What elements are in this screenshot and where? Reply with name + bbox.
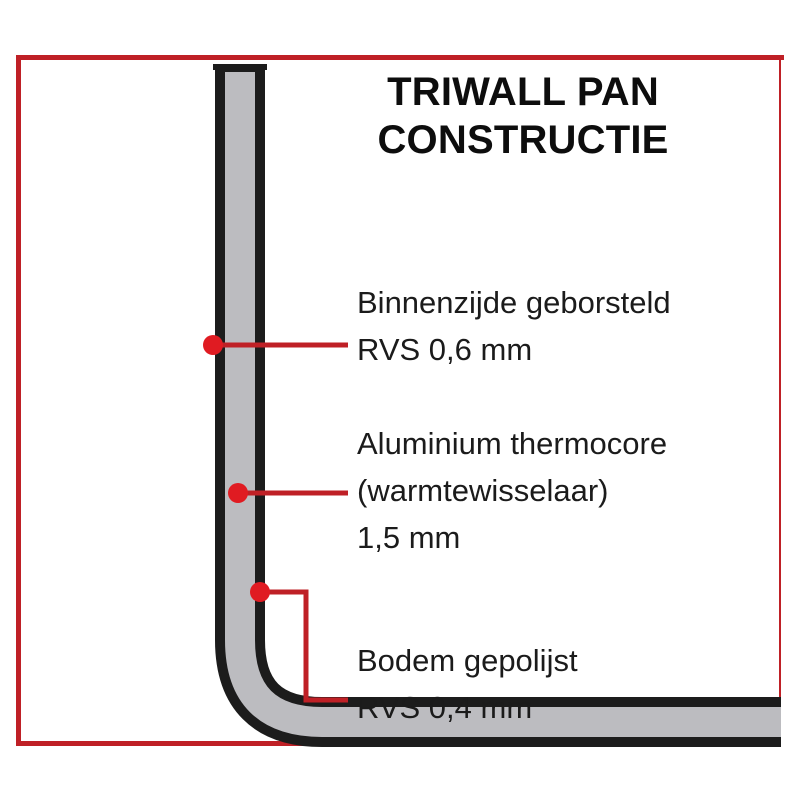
steel-outer-shell	[240, 68, 790, 722]
diagram-canvas: TRIWALL PAN CONSTRUCTIE Binnenzijde gebo…	[0, 0, 800, 800]
wall-top-cap	[213, 64, 267, 70]
page-title: TRIWALL PAN CONSTRUCTIE	[300, 68, 746, 164]
callout-2-line-1: Aluminium thermocore	[357, 420, 667, 467]
right-mask	[781, 60, 800, 750]
callout-dot-3	[250, 582, 270, 602]
callout-label-inner-layer: Binnenzijde geborsteld RVS 0,6 mm	[357, 279, 671, 373]
callout-dot-1	[203, 335, 223, 355]
callout-dot-2	[228, 483, 248, 503]
callout-1-line-1: Binnenzijde geborsteld	[357, 279, 671, 326]
callout-label-outer-bottom-layer: Bodem gepolijst RVS 0,4 mm	[357, 637, 578, 731]
aluminium-thermocore-layer	[240, 72, 790, 722]
page-title-line-1: TRIWALL PAN	[300, 68, 746, 116]
callout-2-line-2: (warmtewisselaar)	[357, 467, 667, 514]
callout-3-line-2: RVS 0,4 mm	[357, 684, 578, 731]
callout-1-line-2: RVS 0,6 mm	[357, 326, 671, 373]
callout-3-line-1: Bodem gepolijst	[357, 637, 578, 684]
callout-2-line-3: 1,5 mm	[357, 514, 667, 561]
callout-label-core-layer: Aluminium thermocore (warmtewisselaar) 1…	[357, 420, 667, 561]
page-title-line-2: CONSTRUCTIE	[300, 116, 746, 164]
bottom-mask	[16, 748, 788, 800]
